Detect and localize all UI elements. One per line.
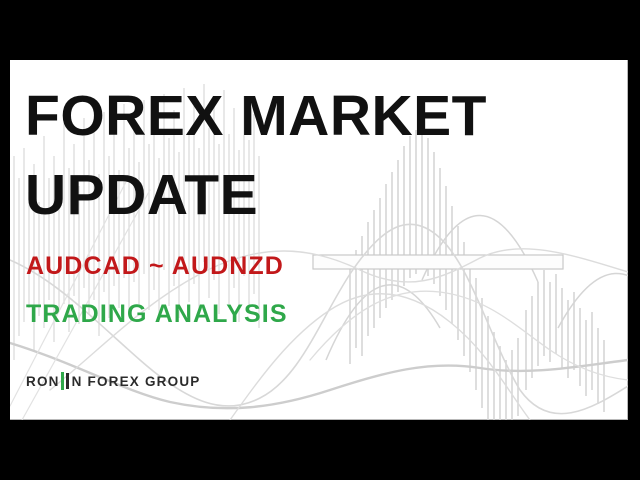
trend-line-quaternary [310,291,628,380]
letterbox-left-bar [0,0,10,480]
candlestick-icon-dark-bar [66,373,69,389]
title-text-block: FOREX MARKET UPDATE AUDCAD ~ AUDNZD TRAD… [10,60,628,420]
headline-line-2: UPDATE [25,167,258,224]
brand-logo: RON N FOREX GROUP [26,372,200,390]
candlestick-group-right [526,270,604,412]
headline-line-1: FOREX MARKET [25,88,487,145]
candlestick-icon-green-bar [61,372,64,390]
currency-pairs-subtitle: AUDCAD ~ AUDNZD [26,254,284,279]
candlestick-group-left [14,84,259,360]
trend-line-secondary [50,249,628,390]
neckline-rectangle [313,255,563,269]
chart-watermark [10,60,628,420]
slide-canvas: FOREX MARKET UPDATE AUDCAD ~ AUDNZD TRAD… [10,60,628,420]
trading-analysis-subtitle: TRADING ANALYSIS [26,302,288,327]
letterbox-right-bar [628,0,640,480]
head-and-shoulders-arcs [326,215,628,360]
letterbox-bottom-bar [0,420,640,480]
trend-line-tertiary [230,294,530,420]
brand-logo-prefix: RON [26,374,60,389]
letterbox-top-bar [0,0,640,60]
brand-logo-suffix: N FOREX GROUP [72,374,201,389]
candlestick-group-center [350,124,518,420]
candlestick-icon [60,372,71,390]
video-frame: FOREX MARKET UPDATE AUDCAD ~ AUDNZD TRAD… [0,0,640,480]
